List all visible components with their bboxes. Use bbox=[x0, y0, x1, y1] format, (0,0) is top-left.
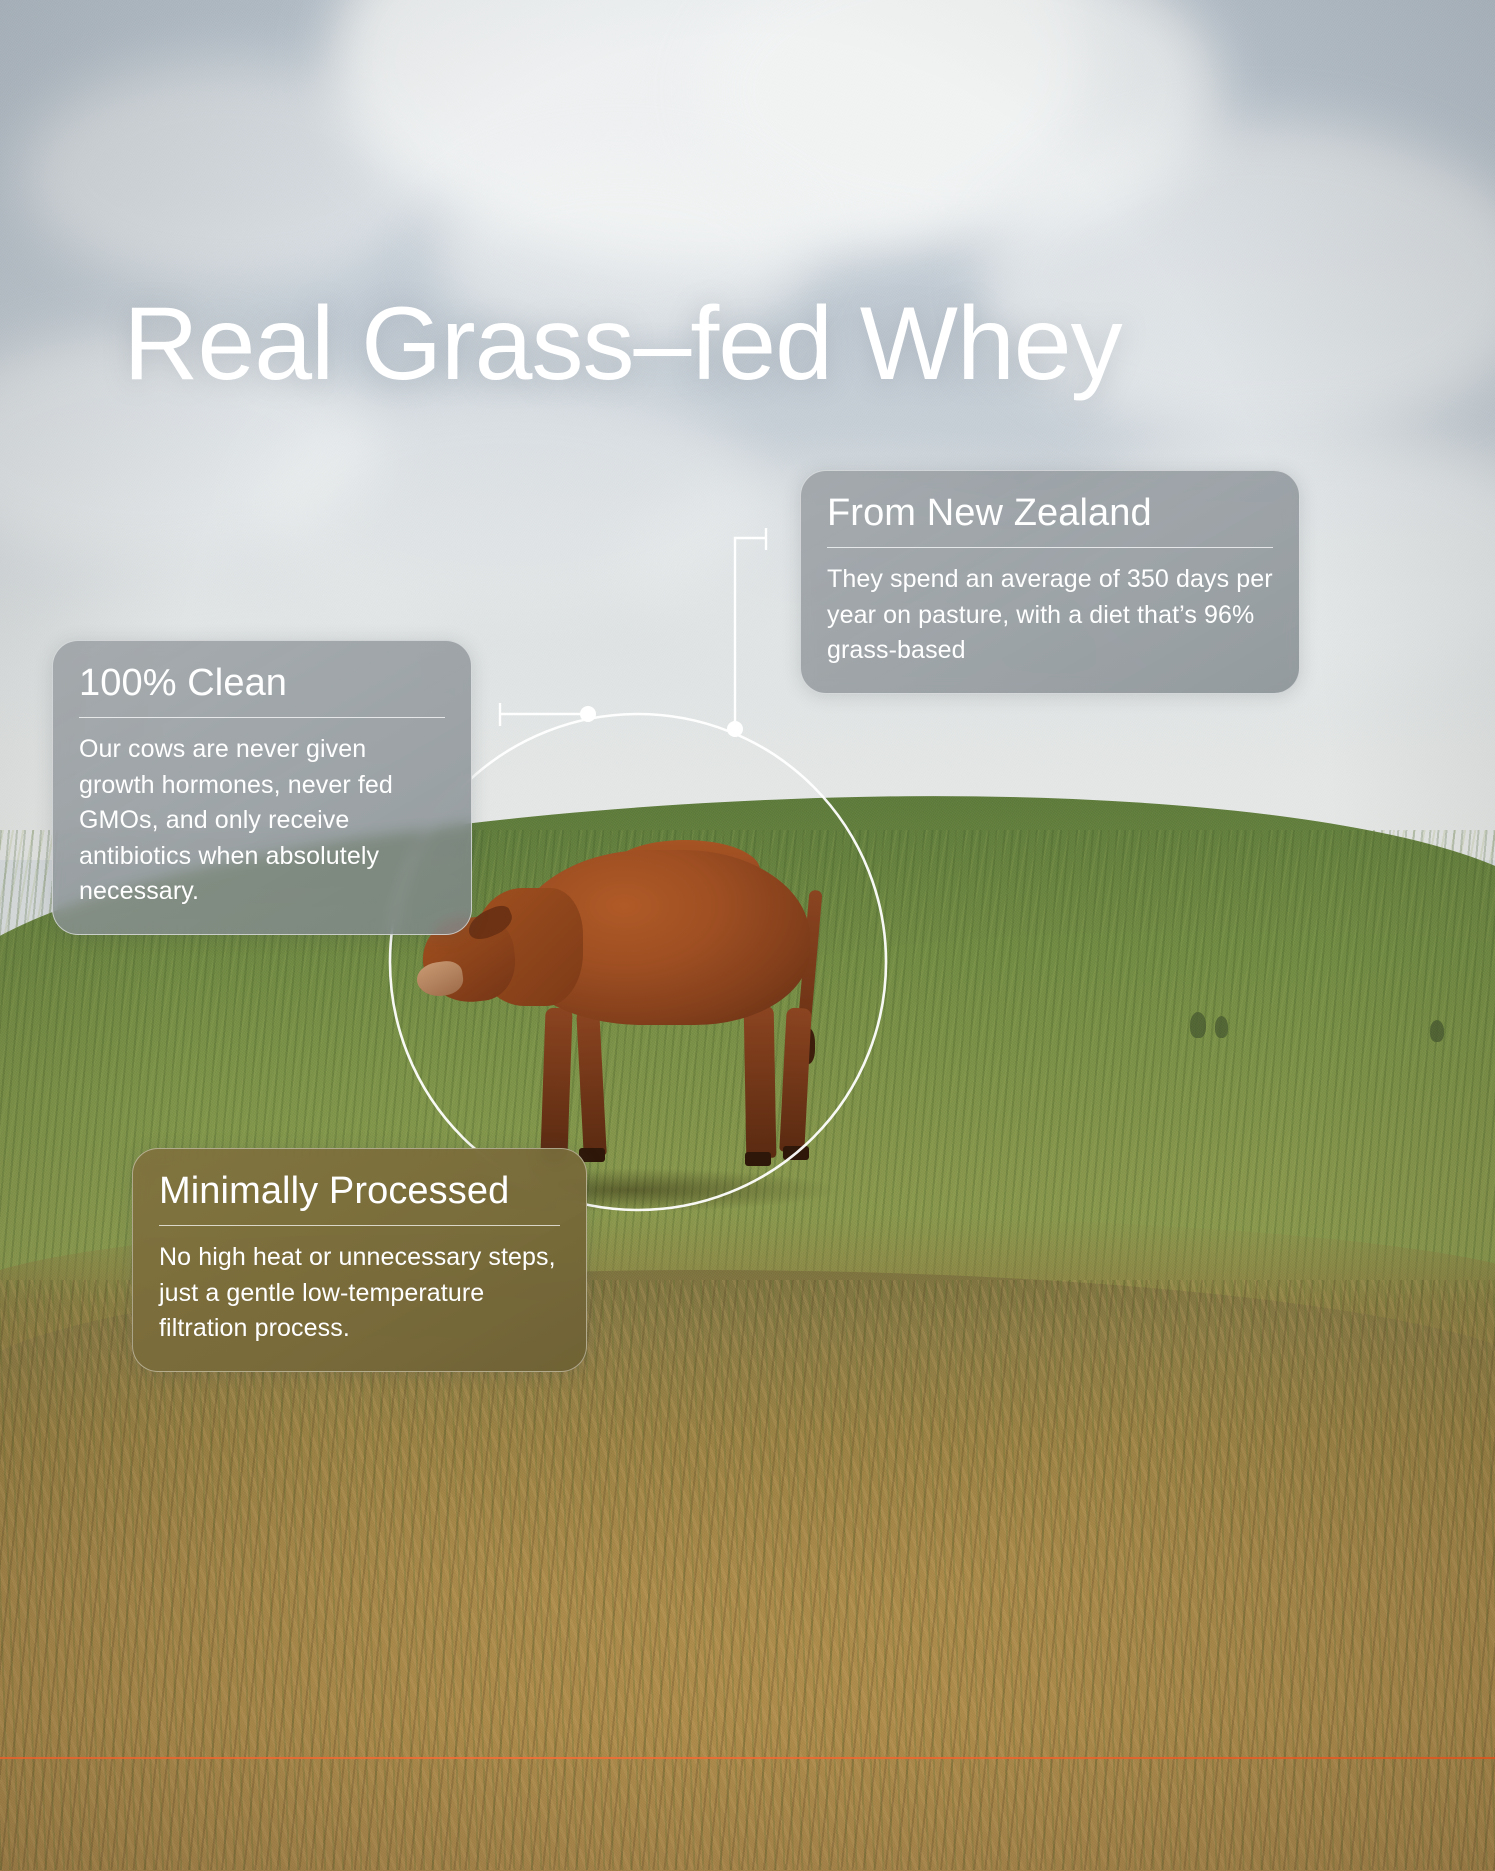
page-title: Real Grass–fed Whey bbox=[0, 292, 1245, 396]
cow-leg bbox=[779, 1007, 812, 1152]
info-card-heading: From New Zealand bbox=[827, 493, 1273, 534]
cow-hoof bbox=[745, 1152, 771, 1166]
info-card-heading: 100% Clean bbox=[79, 663, 445, 704]
info-card-body: No high heat or unnecessary steps, just … bbox=[159, 1240, 560, 1347]
info-card-from-new-zealand[interactable]: From New Zealand They spend an average o… bbox=[800, 470, 1300, 694]
card-divider bbox=[827, 547, 1273, 548]
info-card-body: Our cows are never given growth hormones… bbox=[79, 732, 445, 910]
bottom-accent-rule bbox=[0, 1757, 1495, 1759]
cow-hoof bbox=[783, 1146, 809, 1160]
card-divider bbox=[159, 1225, 560, 1226]
cow-leg bbox=[744, 1006, 777, 1159]
cow-leg bbox=[540, 1008, 572, 1159]
card-divider bbox=[79, 717, 445, 718]
info-card-heading: Minimally Processed bbox=[159, 1171, 560, 1212]
info-card-body: They spend an average of 350 days per ye… bbox=[827, 562, 1273, 669]
cow-leg bbox=[576, 1009, 607, 1156]
info-card-minimally-processed[interactable]: Minimally Processed No high heat or unne… bbox=[132, 1148, 587, 1372]
hero-infographic: Real Grass–fed Whey From New Zealand The… bbox=[0, 0, 1495, 1871]
cow-photo-subject bbox=[415, 840, 875, 1185]
info-card-100-percent-clean[interactable]: 100% Clean Our cows are never given grow… bbox=[52, 640, 472, 935]
